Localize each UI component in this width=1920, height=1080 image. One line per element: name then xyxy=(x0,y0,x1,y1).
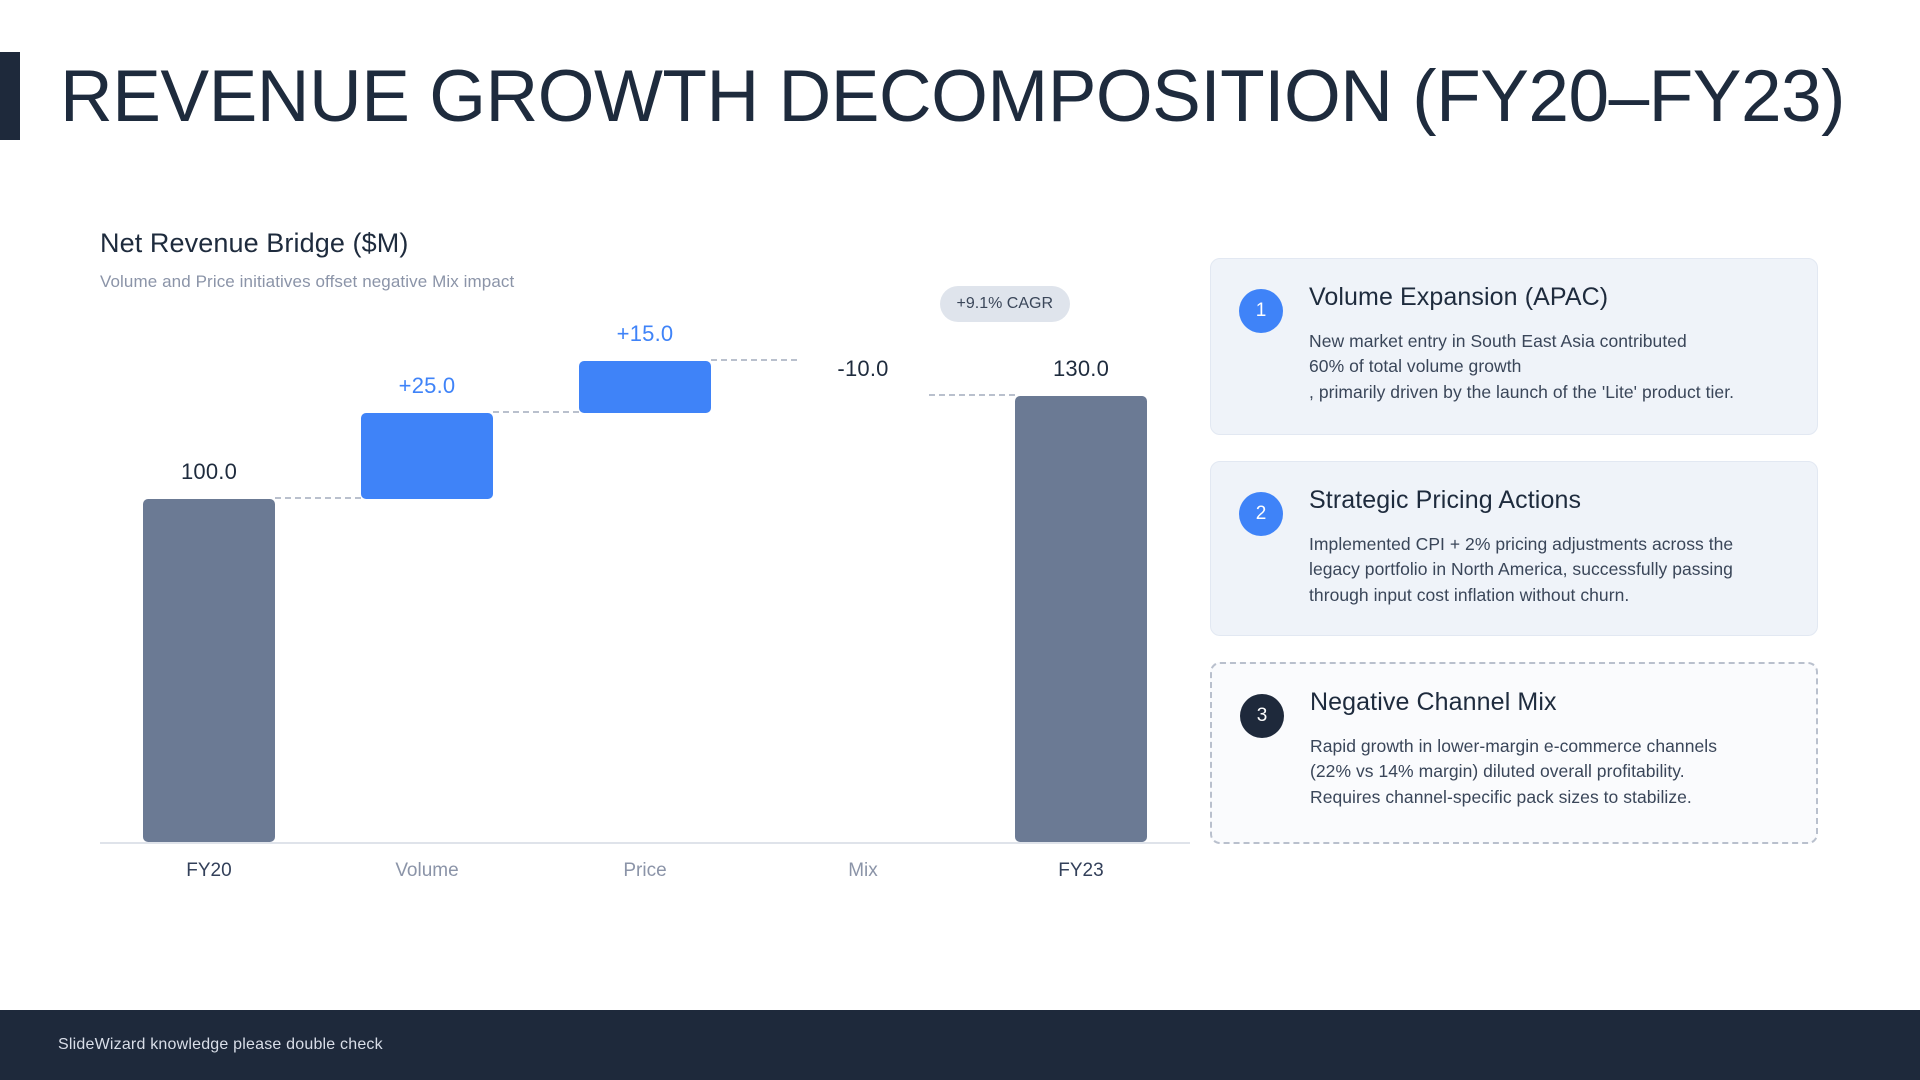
x-tick-label-mix: Mix xyxy=(763,860,963,882)
insight-card-body: Negative Channel MixRapid growth in lowe… xyxy=(1310,688,1717,810)
x-tick-label-fy23: FY23 xyxy=(981,860,1181,882)
bar-fy23[interactable] xyxy=(1015,396,1147,842)
x-tick-label-volume: Volume xyxy=(327,860,527,882)
waterfall-plot: 100.0+25.0+15.0-10.0130.0 xyxy=(100,344,1190,844)
x-tick-label-price: Price xyxy=(545,860,745,882)
slide-header: REVENUE GROWTH DECOMPOSITION (FY20–FY23) xyxy=(0,48,1845,144)
bar-value-label: -10.0 xyxy=(763,356,963,382)
x-axis-category-labels: FY20VolumePriceMixFY23 xyxy=(100,860,1190,890)
insight-number-badge: 2 xyxy=(1239,492,1283,536)
insight-card-3[interactable]: 3Negative Channel MixRapid growth in low… xyxy=(1210,662,1818,844)
insight-card-2[interactable]: 2Strategic Pricing ActionsImplemented CP… xyxy=(1210,461,1818,636)
title-accent-bar xyxy=(0,52,20,140)
insight-card-1[interactable]: 1Volume Expansion (APAC)New market entry… xyxy=(1210,258,1818,435)
waterfall-connector xyxy=(493,411,579,413)
x-axis-line xyxy=(100,842,1190,844)
insight-card-text: Implemented CPI + 2% pricing adjustments… xyxy=(1309,532,1733,609)
insight-number-badge: 1 xyxy=(1239,289,1283,333)
x-tick-label-fy20: FY20 xyxy=(109,860,309,882)
insight-card-body: Strategic Pricing ActionsImplemented CPI… xyxy=(1309,486,1733,608)
cagr-badge: +9.1% CAGR xyxy=(940,286,1070,322)
bar-value-label: +25.0 xyxy=(327,373,527,399)
insight-card-title: Strategic Pricing Actions xyxy=(1309,486,1733,515)
insight-card-text: Rapid growth in lower-margin e-commerce … xyxy=(1310,734,1717,811)
chart-title: Net Revenue Bridge ($M) xyxy=(100,228,1190,259)
bar-volume[interactable] xyxy=(361,413,493,499)
insight-card-text: New market entry in South East Asia cont… xyxy=(1309,329,1734,406)
bar-value-label: +15.0 xyxy=(545,321,745,347)
bar-value-label: 100.0 xyxy=(109,459,309,485)
bar-fy20[interactable] xyxy=(143,499,275,842)
insight-card-list: 1Volume Expansion (APAC)New market entry… xyxy=(1210,258,1818,844)
footer-text: SlideWizard knowledge please double chec… xyxy=(58,1036,383,1054)
insight-card-body: Volume Expansion (APAC)New market entry … xyxy=(1309,283,1734,405)
bar-price[interactable] xyxy=(579,361,711,413)
chart-panel: Net Revenue Bridge ($M) Volume and Price… xyxy=(100,228,1190,898)
page-title: REVENUE GROWTH DECOMPOSITION (FY20–FY23) xyxy=(60,60,1845,133)
insight-card-title: Negative Channel Mix xyxy=(1310,688,1717,717)
waterfall-connector xyxy=(275,497,361,499)
insight-card-title: Volume Expansion (APAC) xyxy=(1309,283,1734,312)
insight-number-badge: 3 xyxy=(1240,694,1284,738)
waterfall-connector xyxy=(929,394,1015,396)
footer-bar: SlideWizard knowledge please double chec… xyxy=(0,1010,1920,1080)
bar-value-label: 130.0 xyxy=(981,356,1181,382)
